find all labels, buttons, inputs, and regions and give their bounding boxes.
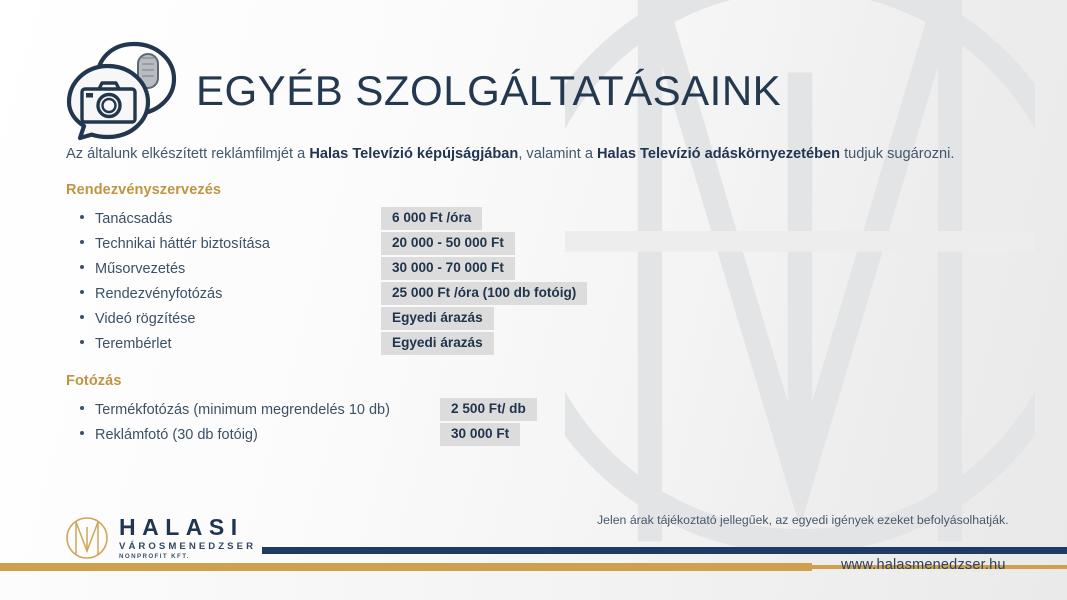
group-title: Rendezvényszervezés [66,182,270,198]
intro-paragraph: Az általunk elkészített reklámfilmjét a … [66,146,954,162]
intro-part-1: Az általunk elkészített reklámfilmjét a [66,146,309,162]
price-disclaimer: Jelen árak tájékoztató jellegűek, az egy… [597,513,1009,527]
bullet-icon [80,406,84,410]
website-url[interactable]: www.halasmenedzser.hu [841,557,1006,573]
price-badge: Egyedi árazás [381,307,494,330]
intro-part-2: , valamint a [518,146,597,162]
price-badge: 6 000 Ft /óra [381,207,482,230]
price-badge: 25 000 Ft /óra (100 db fotóig) [381,282,587,305]
price-cell: Egyedi árazás [381,307,494,330]
price-badge: 2 500 Ft/ db [440,398,537,421]
service-label-wrapper: Termékfotózás (minimum megrendelés 10 db… [66,402,390,418]
service-label: Terembérlet [95,336,172,352]
slide-header: EGYÉB SZOLGÁLTATÁSAINK [64,38,781,144]
footer-logo: HALASI VÁROSMENEDZSER NONPROFIT KFT. [64,515,256,561]
service-label-wrapper: Videó rögzítése [66,311,196,327]
footer-navy-bar [262,547,1067,554]
service-label: Termékfotózás (minimum megrendelés 10 db… [95,402,390,418]
service-row: Termékfotózás (minimum megrendelés 10 db… [66,397,390,422]
service-row: Tanácsadás 6 000 Ft /óra [66,206,270,231]
service-label-wrapper: Tanácsadás [66,211,172,227]
slide-root: EGYÉB SZOLGÁLTATÁSAINK Az általunk elkés… [0,0,1067,600]
price-cell: 25 000 Ft /óra (100 db fotóig) [381,282,587,305]
bullet-icon [80,290,84,294]
camera-microphone-speech-bubble-icon [64,38,182,144]
service-label: Videó rögzítése [95,311,196,327]
price-cell: Egyedi árazás [381,332,494,355]
price-cell: 30 000 Ft [440,423,520,446]
footer-logo-text: HALASI VÁROSMENEDZSER NONPROFIT KFT. [119,516,256,561]
service-row: Technikai háttér biztosítása 20 000 - 50… [66,231,270,256]
service-label: Technikai háttér biztosítása [95,236,270,252]
service-row: Videó rögzítése Egyedi árazás [66,306,270,331]
price-cell: 6 000 Ft /óra [381,207,482,230]
price-cell: 20 000 - 50 000 Ft [381,232,515,255]
price-badge: Egyedi árazás [381,332,494,355]
service-row: Terembérlet Egyedi árazás [66,331,270,356]
service-label: Rendezvényfotózás [95,286,222,302]
intro-part-3: tudjuk sugározni. [840,146,954,162]
service-label: Reklámfotó (30 db fotóig) [95,427,258,443]
service-label-wrapper: Terembérlet [66,336,172,352]
bullet-icon [80,240,84,244]
page-title: EGYÉB SZOLGÁLTATÁSAINK [196,67,781,115]
price-cell: 30 000 - 70 000 Ft [381,257,515,280]
m-monogram-circle-icon [64,515,110,561]
price-badge: 20 000 - 50 000 Ft [381,232,515,255]
intro-bold-1: Halas Televízió képújságjában [309,146,518,162]
price-badge: 30 000 - 70 000 Ft [381,257,515,280]
footer-logo-legal-form: NONPROFIT KFT. [119,554,256,560]
service-label: Műsorvezetés [95,261,185,277]
price-cell: 2 500 Ft/ db [440,398,537,421]
service-label-wrapper: Rendezvényfotózás [66,286,222,302]
service-label-wrapper: Technikai háttér biztosítása [66,236,270,252]
service-group-rendezvenyszervezes: Rendezvényszervezés Tanácsadás 6 000 Ft … [66,182,270,356]
intro-bold-2: Halas Televízió adáskörnyezetében [597,146,840,162]
service-label: Tanácsadás [95,211,172,227]
bullet-icon [80,340,84,344]
price-badge: 30 000 Ft [440,423,520,446]
service-row: Reklámfotó (30 db fotóig) 30 000 Ft [66,422,390,447]
service-label-wrapper: Műsorvezetés [66,261,185,277]
bullet-icon [80,215,84,219]
footer-strip [0,571,1067,600]
footer-logo-subtitle: VÁROSMENEDZSER [119,542,256,552]
footer-gold-bar [0,563,812,571]
footer-logo-name: HALASI [119,516,256,539]
service-group-fotozas: Fotózás Termékfotózás (minimum megrendel… [66,373,390,447]
group-title: Fotózás [66,373,390,389]
service-row: Műsorvezetés 30 000 - 70 000 Ft [66,256,270,281]
service-row: Rendezvényfotózás 25 000 Ft /óra (100 db… [66,281,270,306]
bullet-icon [80,315,84,319]
service-label-wrapper: Reklámfotó (30 db fotóig) [66,427,258,443]
bullet-icon [80,431,84,435]
bullet-icon [80,265,84,269]
